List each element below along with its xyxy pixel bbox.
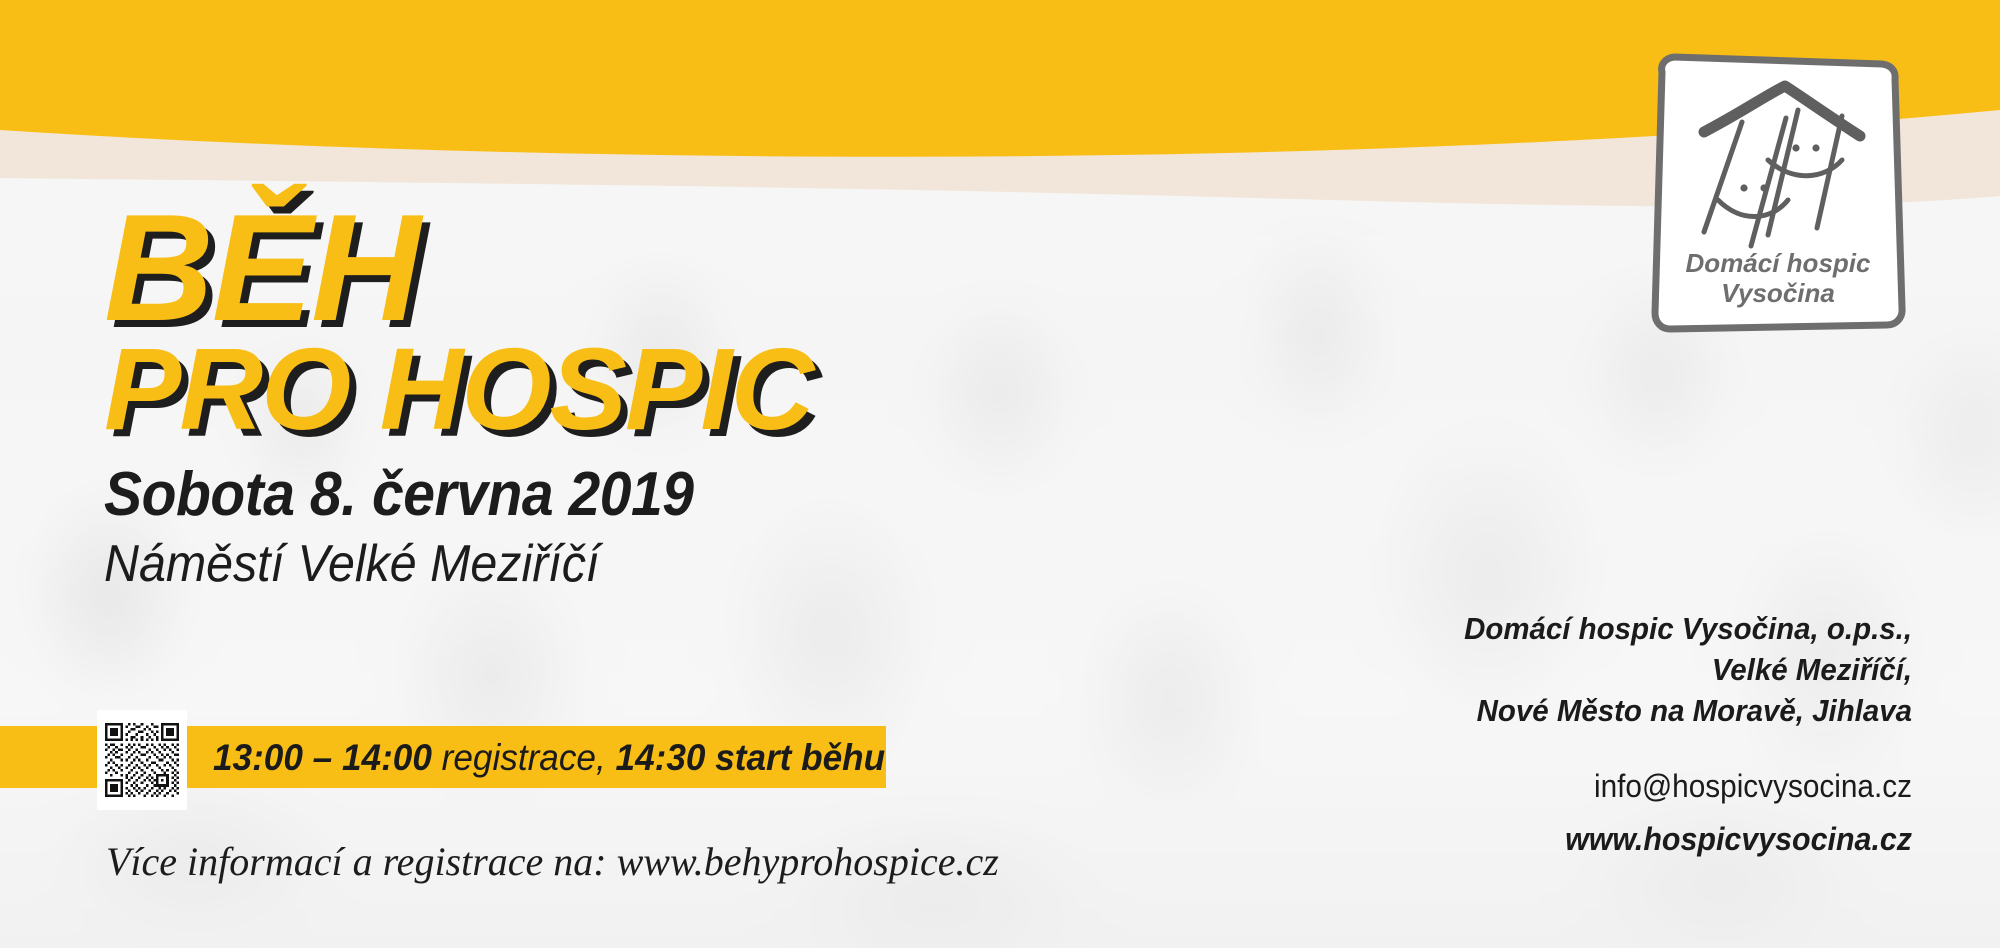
qr-code-panel[interactable] <box>97 710 187 810</box>
headline-block: BĚH PRO HOSPIC Sobota 8. června 2019 Nám… <box>104 196 812 594</box>
start-label: start běhu <box>715 737 885 779</box>
logo-text-line1: Domácí hospic <box>1686 248 1871 278</box>
registration-time: 13:00 – 14:00 <box>213 737 432 779</box>
organizer-address-line-2: Velké Meziříčí, <box>1190 649 1912 690</box>
registration-label: registrace, <box>442 737 606 779</box>
event-date: Sobota 8. června 2019 <box>104 459 756 530</box>
event-place: Náměstí Velké Meziříčí <box>104 534 763 594</box>
organizer-block: Domácí hospic Vysočina, o.p.s., Velké Me… <box>1152 608 1912 858</box>
schedule-text: 13:00 – 14:00 registrace, 14:30 start bě… <box>213 727 885 789</box>
banner-poster: Domácí hospic Vysočina BĚH PRO HOSPIC So… <box>0 0 2000 948</box>
organizer-email[interactable]: info@hospicvysocina.cz <box>1205 768 1912 805</box>
qr-code-icon <box>105 723 179 797</box>
logo-text-line2: Vysočina <box>1721 278 1835 308</box>
start-time: 14:30 <box>616 737 706 779</box>
organizer-address-line-1: Domácí hospic Vysočina, o.p.s., <box>1190 608 1912 649</box>
organizer-address-line-3: Nové Město na Moravě, Jihlava <box>1190 690 1912 731</box>
logo-domaci-hospic-vysocina[interactable]: Domácí hospic Vysočina <box>1646 50 1910 338</box>
more-info-line[interactable]: Více informací a registrace na: www.behy… <box>106 838 999 885</box>
title-line-2: PRO HOSPIC <box>104 334 812 444</box>
title-line-1: BĚH <box>104 196 812 340</box>
organizer-website[interactable]: www.hospicvysocina.cz <box>1190 821 1912 858</box>
